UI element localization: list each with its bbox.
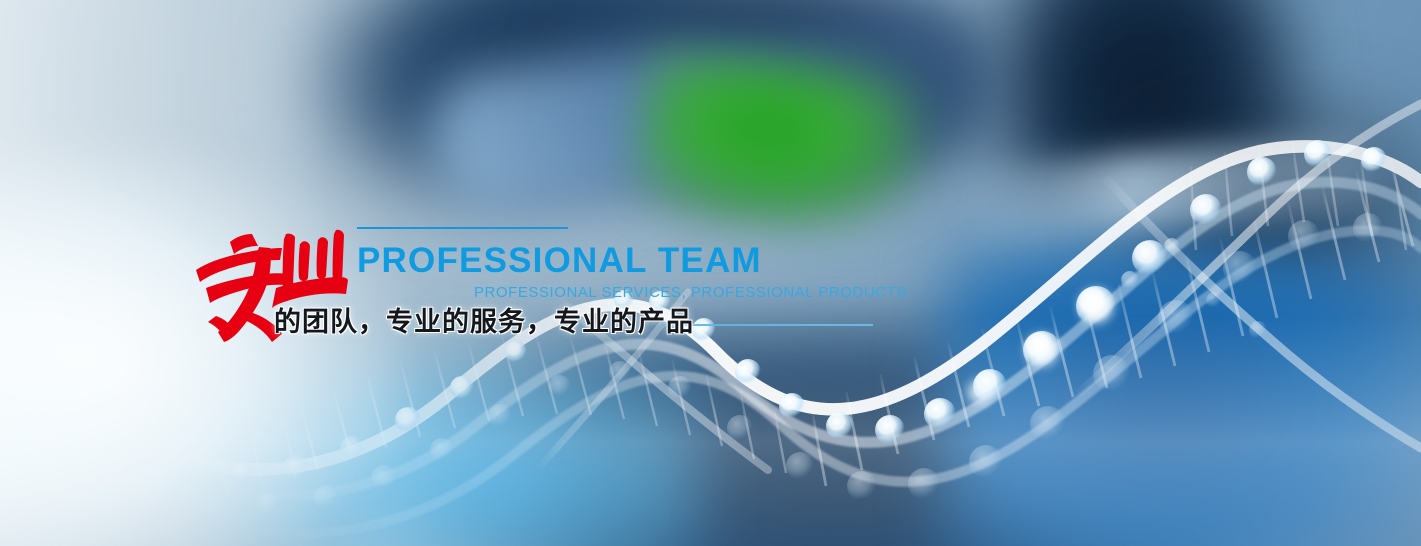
- headline-text: PROFESSIONAL TEAM: [357, 243, 762, 278]
- promotional-banner: PROFESSIONAL TEAM PROFESSIONAL SERVICES,…: [0, 0, 1421, 546]
- tagline-text: PROFESSIONAL SERVICES, PROFESSIONAL PROD…: [474, 285, 907, 300]
- decorative-rule-top: [357, 227, 568, 229]
- banner-text-lockup: PROFESSIONAL TEAM PROFESSIONAL SERVICES,…: [0, 0, 1421, 546]
- chinese-subtitle-text: 的团队，专业的服务，专业的产品: [274, 306, 694, 340]
